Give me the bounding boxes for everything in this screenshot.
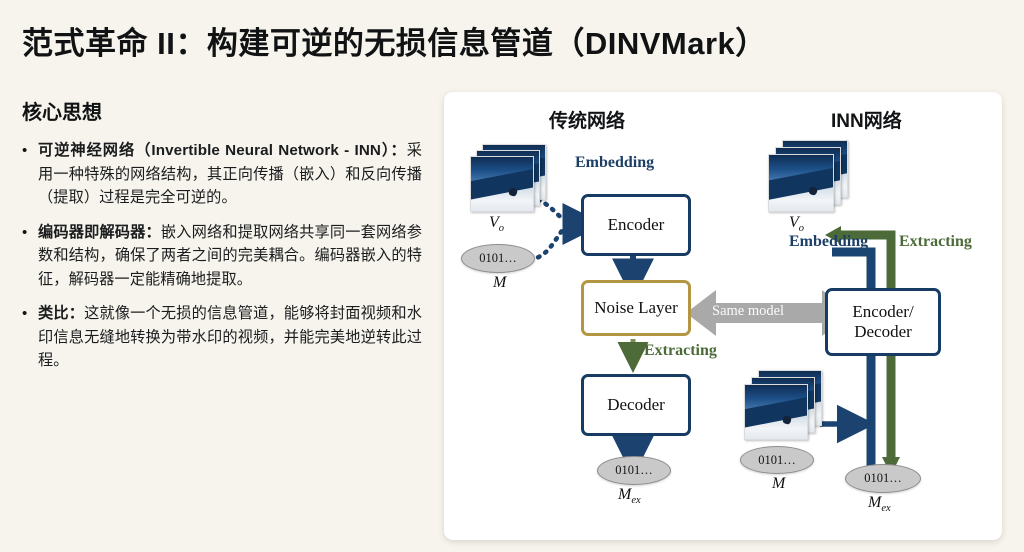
watermarked-video-stack-inn (742, 370, 824, 444)
list-item: • 类比：这就像一个无损的信息管道，能够将封面视频和水印信息无缝地转换为带水印的… (22, 302, 422, 373)
bullet-marker: • (22, 221, 38, 292)
key-ideas-section: 核心思想 • 可逆神经网络（Invertible Neural Network … (22, 96, 422, 384)
section-heading: 核心思想 (22, 96, 422, 125)
extracting-label-inn: Extracting (899, 233, 972, 251)
encoder-box: Encoder (581, 194, 691, 256)
extracting-label-traditional: Extracting (644, 342, 717, 360)
extracted-bits-inn: 0101… (845, 464, 921, 493)
extracted-bits-traditional: 0101… (597, 456, 671, 485)
extracted-label-inn: Mex (868, 494, 891, 514)
cover-video-label-traditional: Vo (489, 214, 504, 234)
bullet-marker: • (22, 139, 38, 210)
cover-video-stack-traditional (468, 144, 548, 216)
bullet-text: 类比：这就像一个无损的信息管道，能够将封面视频和水印信息无缝地转换为带水印的视频… (38, 302, 422, 373)
embedding-label-traditional: Embedding (575, 154, 654, 172)
bullet-marker: • (22, 302, 38, 373)
decoder-box: Decoder (581, 374, 691, 436)
encoder-decoder-line1: Encoder/ (852, 302, 913, 322)
bullet-lead: 编码器即解码器： (38, 224, 161, 241)
noise-layer-box: Noise Layer (581, 280, 691, 336)
message-bits-inn: 0101… (740, 446, 814, 474)
encoder-decoder-line2: Decoder (854, 322, 912, 342)
same-model-label: Same model (712, 303, 784, 320)
extracted-label-traditional: Mex (618, 486, 641, 506)
bullet-text: 编码器即解码器：嵌入网络和提取网络共享同一套网络参数和结构，确保了两者之间的完美… (38, 221, 422, 292)
bullet-text: 可逆神经网络（Invertible Neural Network - INN）：… (38, 139, 422, 210)
diagram-card: 传统网络 INN网络 (444, 92, 1002, 540)
encoder-decoder-box: Encoder/ Decoder (825, 288, 941, 356)
cover-video-stack-inn (766, 140, 846, 216)
bullet-lead: 可逆神经网络（Invertible Neural Network - INN）： (38, 142, 407, 159)
message-bits-traditional: 0101… (461, 244, 535, 273)
page-title: 范式革命 II：构建可逆的无损信息管道（DINVMark） (22, 18, 767, 63)
embedding-label-inn: Embedding (789, 233, 868, 251)
list-item: • 编码器即解码器：嵌入网络和提取网络共享同一套网络参数和结构，确保了两者之间的… (22, 221, 422, 292)
message-label-traditional: M (493, 274, 506, 292)
list-item: • 可逆神经网络（Invertible Neural Network - INN… (22, 139, 422, 210)
cover-video-label-inn: Vo (789, 214, 804, 234)
bullet-body: 这就像一个无损的信息管道，能够将封面视频和水印信息无缝地转换为带水印的视频，并能… (38, 305, 422, 369)
bullet-lead: 类比： (38, 305, 84, 322)
message-label-inn: M (772, 475, 785, 493)
